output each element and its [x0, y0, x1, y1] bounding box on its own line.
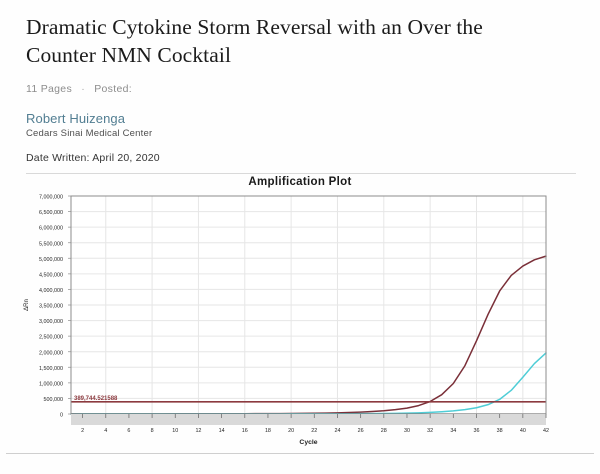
y-axis-tick-label: 5,000,000: [39, 257, 63, 263]
x-axis-tick-label: 20: [288, 428, 294, 434]
x-axis-tick-label: 16: [242, 428, 248, 434]
y-axis-tick-label: 3,000,000: [39, 319, 63, 325]
author-link[interactable]: Robert Huizenga: [26, 111, 576, 126]
x-axis-title: Cycle: [299, 439, 317, 446]
y-axis-tick-label: 7,000,000: [39, 195, 63, 201]
y-axis-tick-label: 4,500,000: [39, 272, 63, 278]
x-axis-tick-label: 24: [334, 428, 340, 434]
y-axis-tick-label: 2,000,000: [39, 350, 63, 356]
x-axis-tick-label: 14: [219, 428, 225, 434]
page-count: 11 Pages: [26, 83, 72, 95]
x-axis-tick-label: 12: [195, 428, 201, 434]
amplification-plot-svg: 0500,0001,000,0001,500,0002,000,0002,500…: [0, 174, 600, 458]
x-axis-tick-label: 26: [358, 428, 364, 434]
x-axis-tick-label: 22: [311, 428, 317, 434]
y-axis-tick-label: 4,000,000: [39, 288, 63, 294]
y-axis-tick-label: 1,500,000: [39, 366, 63, 372]
x-axis-tick-label: 42: [543, 428, 549, 434]
x-axis-tick-label: 2: [81, 428, 84, 434]
x-axis-tick-label: 36: [473, 428, 479, 434]
x-axis-tick-label: 38: [497, 428, 503, 434]
author-affiliation: Cedars Sinai Medical Center: [26, 128, 576, 139]
meta-separator: ·: [81, 83, 85, 95]
x-axis-tick-label: 28: [381, 428, 387, 434]
y-axis-tick-label: 6,500,000: [39, 210, 63, 216]
y-axis-tick-label: 1,000,000: [39, 381, 63, 387]
paper-meta: 11 Pages · Posted:: [26, 83, 576, 95]
date-written: Date Written: April 20, 2020: [26, 152, 576, 164]
posted-label: Posted:: [94, 83, 132, 95]
paper-header: Dramatic Cytokine Storm Reversal with an…: [0, 0, 600, 174]
x-axis-tick-label: 18: [265, 428, 271, 434]
x-axis-tick-label: 6: [127, 428, 130, 434]
x-axis-band: [71, 414, 546, 425]
threshold-value-label: 389,744.521588: [74, 396, 118, 402]
figure-bottom-rule: [6, 453, 594, 454]
x-axis-tick-label: 34: [450, 428, 456, 434]
y-axis-tick-label: 500,000: [44, 397, 64, 403]
y-axis-title: ΔRn: [24, 299, 30, 311]
x-axis-tick-label: 40: [520, 428, 526, 434]
y-axis-tick-label: 2,500,000: [39, 335, 63, 341]
page-title: Dramatic Cytokine Storm Reversal with an…: [26, 14, 546, 69]
y-axis-tick-label: 5,500,000: [39, 241, 63, 247]
x-axis-tick-label: 32: [427, 428, 433, 434]
amplification-plot-figure: Amplification Plot 0500,0001,000,0001,50…: [0, 174, 600, 458]
y-axis-tick-label: 6,000,000: [39, 226, 63, 232]
paper-page: Dramatic Cytokine Storm Reversal with an…: [0, 0, 600, 474]
y-axis-tick-label: 0: [60, 413, 63, 419]
y-axis-tick-label: 3,500,000: [39, 304, 63, 310]
x-axis-tick-label: 8: [151, 428, 154, 434]
x-axis-tick-label: 4: [104, 428, 107, 434]
x-axis-tick-label: 10: [172, 428, 178, 434]
x-axis-tick-label: 30: [404, 428, 410, 434]
author-block: Robert Huizenga Cedars Sinai Medical Cen…: [26, 111, 576, 139]
